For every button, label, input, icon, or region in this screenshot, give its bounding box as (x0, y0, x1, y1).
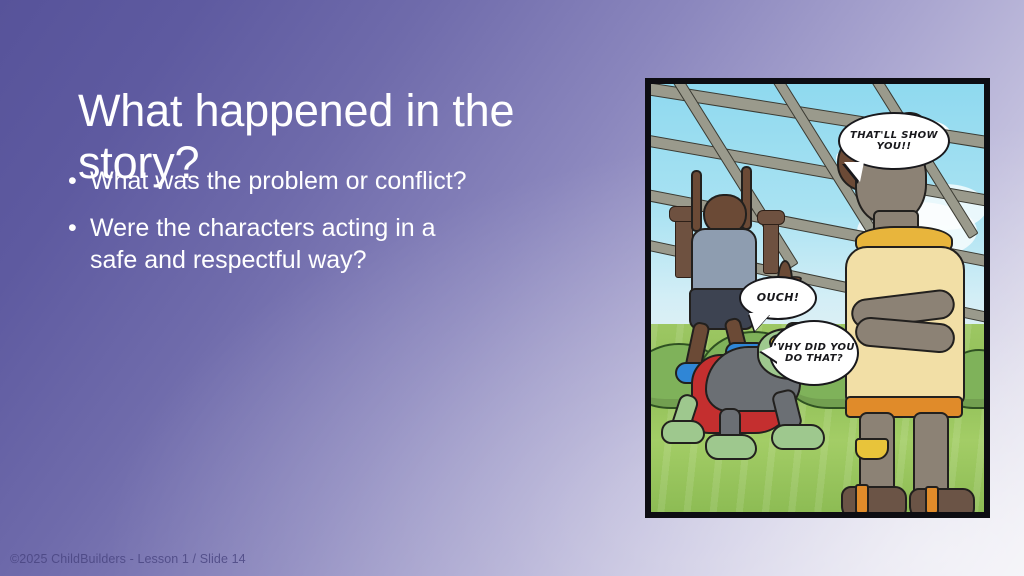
bubble-tail-icon (761, 344, 779, 363)
presentation-slide: What happened in the story? • What was t… (0, 0, 1024, 576)
frog-foot-left (705, 434, 757, 460)
list-item: • What was the problem or conflict? (68, 165, 468, 198)
bubble-ouch: OUCH! (739, 276, 817, 320)
slide-footer: ©2025 ChildBuilders - Lesson 1 / Slide 1… (10, 552, 246, 566)
illustration-frame: THAT'LL SHOW YOU!! OUCH! WHY DID YOU DO … (645, 78, 990, 518)
bubble-tail-icon (844, 162, 864, 182)
bullet-marker-icon: • (68, 165, 90, 198)
bubble-tail-icon (749, 313, 771, 331)
bubble-text: OUCH! (757, 292, 800, 305)
figure-boot-strap (855, 484, 869, 512)
figure-boot-right (909, 488, 975, 512)
figure-knee-scarf (855, 438, 889, 460)
list-item: • Were the characters acting in a safe a… (68, 212, 468, 277)
bullet-marker-icon: • (68, 212, 90, 245)
bubble-thatll-show-you: THAT'LL SHOW YOU!! (838, 112, 950, 170)
bullet-text: What was the problem or conflict? (90, 165, 468, 198)
bubble-why-did-you-do-that: WHY DID YOU DO THAT? (769, 320, 859, 386)
bubble-text: THAT'LL SHOW YOU!! (840, 130, 948, 153)
bubble-text: WHY DID YOU DO THAT? (771, 342, 857, 365)
figure-boot-strap (925, 486, 939, 512)
kid-arm-left (691, 170, 702, 232)
playground-comic-panel: THAT'LL SHOW YOU!! OUCH! WHY DID YOU DO … (651, 84, 984, 512)
figure-boot-left (841, 486, 907, 512)
bullet-list: • What was the problem or conflict? • We… (68, 165, 468, 291)
frog-hand-left (661, 420, 705, 444)
bullet-text: Were the characters acting in a safe and… (90, 212, 468, 277)
frog-foot-right (771, 424, 825, 450)
